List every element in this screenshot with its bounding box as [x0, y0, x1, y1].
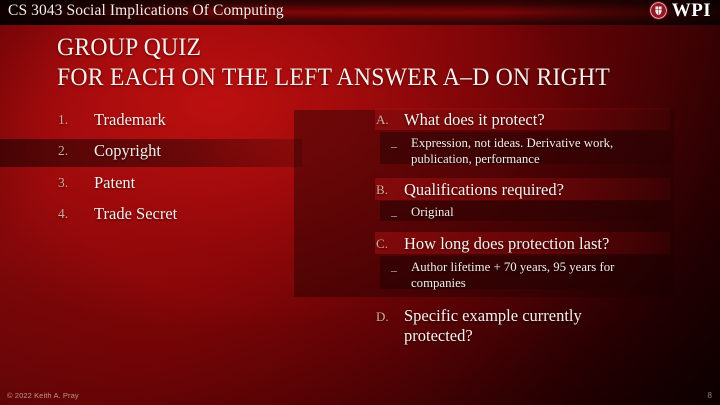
question-text: What does it protect?: [404, 110, 694, 130]
list-item[interactable]: 3. Patent: [0, 167, 300, 199]
wpi-logo: WPI: [649, 1, 711, 20]
answer-dash: –: [391, 263, 397, 278]
left-items-list: 1. Trademark 2. Copyright 3. Patent 4. T…: [0, 104, 300, 230]
slide-title: GROUP QUIZ FOR EACH ON THE LEFT ANSWER A…: [57, 33, 665, 93]
question-marker: B.: [376, 182, 388, 198]
question-text: How long does protection last?: [404, 234, 694, 254]
list-item-label: Trade Secret: [94, 204, 177, 224]
list-item-marker: 3.: [58, 175, 84, 191]
answer-text: Author lifetime + 70 years, 95 years for…: [411, 260, 671, 292]
list-item[interactable]: 4. Trade Secret: [0, 199, 300, 231]
answer-text: Original: [411, 205, 671, 221]
question-marker: C.: [376, 236, 388, 252]
list-item-label: Patent: [94, 173, 135, 193]
slide-page-number: 8: [708, 391, 712, 400]
list-item-marker: 1.: [58, 112, 84, 128]
list-item[interactable]: 1. Trademark: [0, 104, 300, 136]
list-item-marker: 4.: [58, 206, 84, 222]
question-marker: D.: [376, 309, 389, 325]
question-text: Qualifications required?: [404, 180, 694, 200]
list-item-label: Copyright: [94, 141, 161, 161]
wpi-wordmark: WPI: [672, 1, 711, 20]
answer-dash: –: [391, 208, 397, 223]
list-item-label: Trademark: [94, 110, 166, 130]
course-title: CS 3043 Social Implications Of Computing: [8, 2, 284, 20]
question-marker: A.: [376, 112, 389, 128]
answer-text: Expression, not ideas. Derivative work, …: [411, 136, 671, 168]
list-item[interactable]: 2. Copyright: [0, 136, 300, 168]
footer-copyright: © 2022 Keith A. Pray: [7, 391, 79, 400]
question-text: Specific example currently protected?: [404, 306, 629, 346]
answer-dash: –: [391, 139, 397, 154]
slide-title-line-2: FOR EACH ON THE LEFT ANSWER A–D ON RIGHT: [57, 63, 665, 93]
list-item-marker: 2.: [58, 143, 84, 159]
presentation-slide: CS 3043 Social Implications Of Computing…: [0, 0, 720, 405]
wpi-seal-icon: [649, 1, 668, 20]
slide-title-line-1: GROUP QUIZ: [57, 33, 665, 63]
